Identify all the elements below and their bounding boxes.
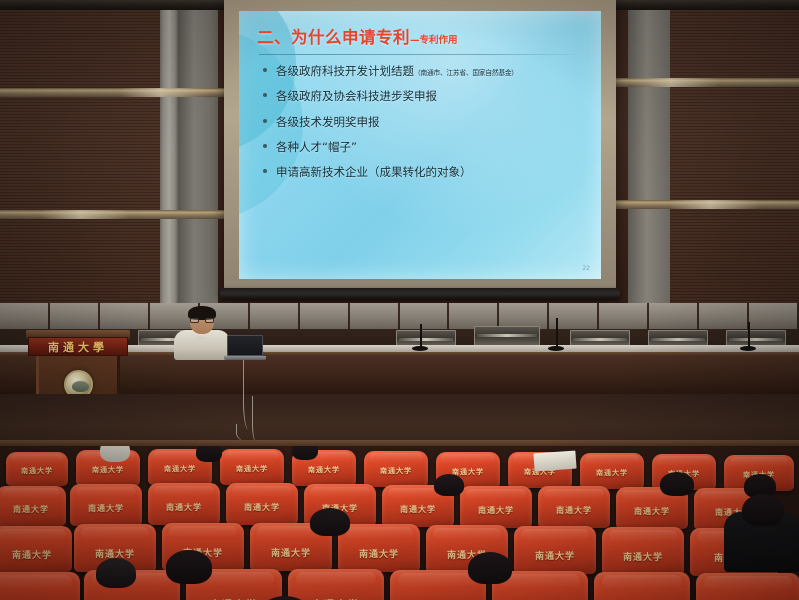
seat: 南通大学 <box>226 483 298 525</box>
slide-title-sub: —专利作用 <box>410 35 458 46</box>
audience-head <box>468 552 512 584</box>
projection-screen-assembly: 二、为什么申请专利—专利作用 各级政府科技开发计划结题（南通市、江苏省、国家自然… <box>224 0 616 303</box>
bullet-dot-icon <box>263 144 267 148</box>
stage-wall-tiles <box>0 303 799 329</box>
seat: 南通大学 <box>364 451 428 487</box>
bullet-text: 各种人才“帽子” <box>276 141 357 154</box>
seat: 南通大学 <box>460 486 532 528</box>
wall-panel-left <box>0 0 160 330</box>
seat: 南通大学 <box>0 572 80 600</box>
wall-trim-band <box>610 200 799 209</box>
laptop-screen <box>227 335 263 356</box>
wall-pilaster-2 <box>178 0 218 330</box>
seat: 南通大学 <box>0 486 66 526</box>
slide-title: 二、为什么申请专利—专利作用 <box>257 29 587 47</box>
wall-trim-band <box>610 78 799 87</box>
audience-head <box>196 446 222 462</box>
slide-title-main: 二、为什么申请专利 <box>257 28 410 47</box>
bullet-dot-icon <box>263 93 267 97</box>
microphone-base <box>412 346 428 351</box>
audience-head <box>310 508 350 536</box>
bullet-text: 申请高新技术企业（成果转化的对象） <box>276 166 472 179</box>
podium-nameplate-text: 南通大學 <box>48 339 108 355</box>
wall-trim-band <box>0 210 250 219</box>
seat: 南通大学 <box>338 524 420 572</box>
seat: 南通大学 <box>594 572 690 600</box>
podium-nameplate: 南通大學 <box>28 337 128 356</box>
seat: 南通大学 <box>6 452 68 486</box>
wall-pilaster-3 <box>628 0 670 330</box>
slide-bullet-item: 各种人才“帽子” <box>263 141 587 154</box>
bullet-note: （南通市、江苏省、国家自然基金） <box>414 69 518 77</box>
bullet-dot-icon <box>263 119 267 123</box>
slide-page-number: 22 <box>582 265 590 272</box>
microphone-base <box>548 346 564 351</box>
audience-head <box>96 558 136 588</box>
seat: 南通大学 <box>220 449 284 485</box>
bullet-text: 各级技术发明奖申报 <box>276 116 380 129</box>
seat: 南通大学 <box>288 569 384 600</box>
slide-bullet-item: 各级政府及协会科技进步奖申报 <box>263 90 587 103</box>
microphone-base <box>740 346 756 351</box>
wall-pilaster-1 <box>160 0 178 330</box>
seat: 南通大学 <box>602 527 684 575</box>
audience-head <box>166 550 212 584</box>
audience-head <box>742 494 784 526</box>
wall-trim-band <box>0 88 250 97</box>
seat: 南通大学 <box>580 453 644 489</box>
slide-bullet-item: 各级政府科技开发计划结题（南通市、江苏省、国家自然基金） <box>263 65 587 78</box>
seat: 南通大学 <box>0 526 72 572</box>
seat: 南通大学 <box>514 526 596 574</box>
audience-head <box>660 472 694 496</box>
screen-roller-bar <box>220 288 620 299</box>
slide-bullet-item: 各级技术发明奖申报 <box>263 116 587 129</box>
laptop <box>224 335 266 361</box>
slide-title-divider <box>259 54 585 55</box>
seat: 南通大学 <box>696 573 799 600</box>
slide-bullet-item: 申请高新技术企业（成果转化的对象） <box>263 166 587 179</box>
seat: 南通大学 <box>538 486 610 528</box>
audience-head <box>434 474 464 496</box>
seat: 南通大学 <box>148 483 220 525</box>
bullet-text: 各级政府及协会科技进步奖申报 <box>276 90 437 103</box>
audience-seating: 南通大学 南通大学 南通大学 南通大学 南通大学 南通大学 南通大学 南通大学 … <box>0 446 799 600</box>
bullet-dot-icon <box>263 169 267 173</box>
presentation-slide: 二、为什么申请专利—专利作用 各级政府科技开发计划结题（南通市、江苏省、国家自然… <box>239 11 601 279</box>
audience-head <box>292 446 318 460</box>
audience-head <box>100 446 130 462</box>
glasses-icon <box>190 318 214 323</box>
bullet-dot-icon <box>263 68 267 72</box>
paper-sheet <box>533 451 576 472</box>
wall-panel-right <box>670 0 799 330</box>
seat: 南通大学 <box>70 484 142 526</box>
slide-bullet-list: 各级政府科技开发计划结题（南通市、江苏省、国家自然基金） 各级政府及协会科技进步… <box>257 65 587 179</box>
lecture-hall-scene: 二、为什么申请专利—专利作用 各级政府科技开发计划结题（南通市、江苏省、国家自然… <box>0 0 799 600</box>
bullet-text: 各级政府科技开发计划结题（南通市、江苏省、国家自然基金） <box>276 65 518 78</box>
